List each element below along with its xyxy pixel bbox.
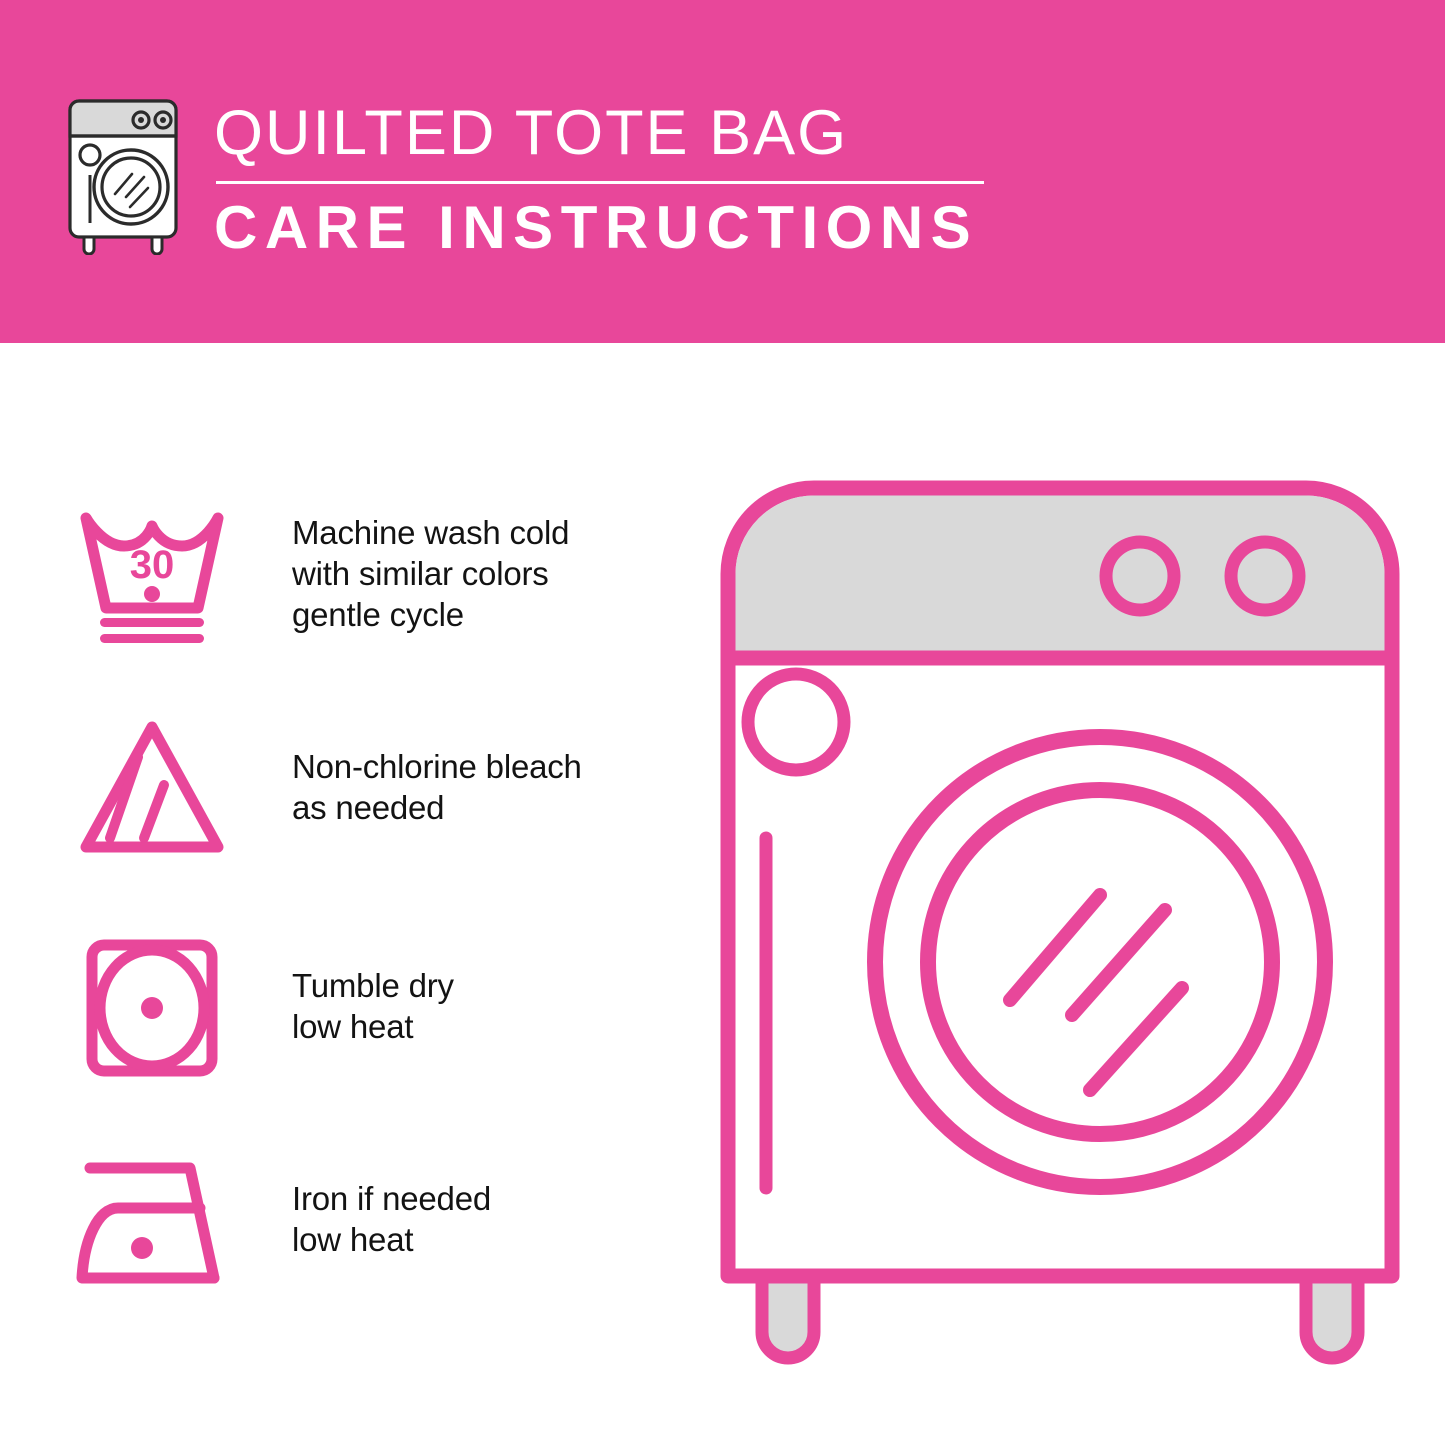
wash-basin-30-icon: 30 (72, 500, 232, 650)
bleach-triangle-icon (72, 713, 232, 863)
page-title: QUILTED TOTE BAG (214, 97, 984, 169)
care-text-bleach: Non-chlorine bleach as needed (292, 713, 582, 828)
washing-machine-logo-icon (58, 95, 188, 255)
care-row-bleach: Non-chlorine bleach as needed (72, 713, 672, 863)
washing-machine-illustration (710, 470, 1410, 1380)
machine-control-panel (736, 496, 1385, 659)
wash-temperature-label: 30 (130, 543, 175, 587)
page-subtitle: CARE INSTRUCTIONS (214, 194, 984, 262)
tumble-dry-square-icon (72, 933, 232, 1083)
care-text-iron: Iron if needed low heat (292, 1148, 491, 1260)
title-divider (216, 181, 984, 184)
header-content: QUILTED TOTE BAG CARE INSTRUCTIONS (58, 95, 984, 262)
care-row-machine-wash: 30 Machine wash cold with similar colors… (72, 500, 672, 650)
care-row-iron: Iron if needed low heat (72, 1148, 672, 1298)
header-title-group: QUILTED TOTE BAG CARE INSTRUCTIONS (214, 95, 984, 262)
care-row-tumble-dry: Tumble dry low heat (72, 933, 672, 1083)
care-text-machine-wash: Machine wash cold with similar colors ge… (292, 500, 569, 635)
washing-machine-graphic (710, 470, 1410, 1380)
care-instruction-list: 30 Machine wash cold with similar colors… (0, 343, 700, 1445)
header-band: QUILTED TOTE BAG CARE INSTRUCTIONS (0, 0, 1445, 343)
iron-icon (72, 1148, 232, 1298)
care-text-tumble-dry: Tumble dry low heat (292, 933, 454, 1047)
care-instructions-infographic: QUILTED TOTE BAG CARE INSTRUCTIONS 30 Ma… (0, 0, 1445, 1445)
